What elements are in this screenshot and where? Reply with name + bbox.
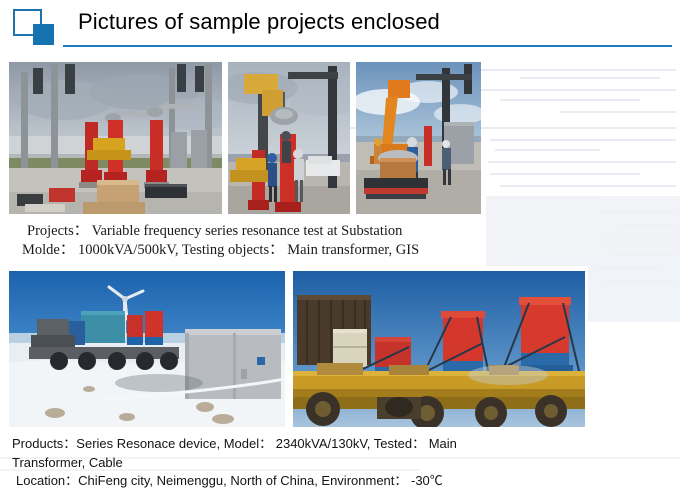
- caption-bottom-line2: Transformer, Cable: [0, 454, 680, 473]
- slide-header: Pictures of sample projects enclosed: [0, 0, 680, 52]
- caption-top-row: Projects： Variable frequency series reso…: [0, 222, 680, 260]
- photo-boomlift-testing: [356, 62, 481, 214]
- page-title: Pictures of sample projects enclosed: [78, 9, 440, 35]
- photo-reactor-transport: [293, 271, 585, 427]
- caption-top-line2: Molde： 1000kVA/500kV, Testing objects： M…: [0, 241, 680, 260]
- company-logo: [13, 9, 61, 45]
- header-divider: [63, 45, 672, 47]
- caption-top-line1: Projects： Variable frequency series reso…: [0, 222, 680, 241]
- photo-substation-overview: [9, 62, 222, 214]
- caption-bottom-line1: Products：Series Resonace device, Model： …: [0, 435, 680, 454]
- photo-crane-install: [228, 62, 350, 214]
- photo-winter-site: [9, 271, 285, 427]
- caption-bottom-row: Products：Series Resonace device, Model： …: [0, 435, 680, 491]
- logo-filled-square: [33, 24, 54, 45]
